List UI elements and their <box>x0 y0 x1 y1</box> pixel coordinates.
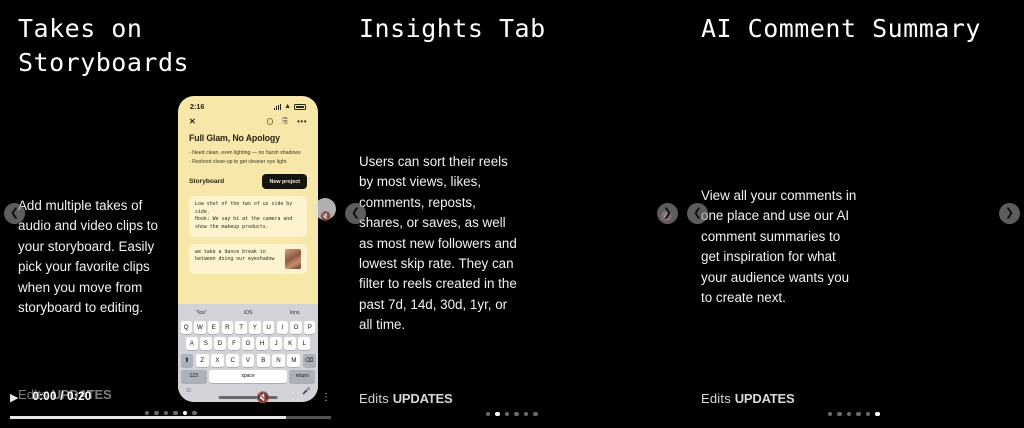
page-dot[interactable] <box>866 412 871 417</box>
video-progress-track[interactable] <box>10 416 331 419</box>
storyboard-card[interactable]: Low shot of the two of us side by side. … <box>189 196 307 236</box>
page-dot[interactable] <box>524 412 529 417</box>
video-time: 0:00 / 0:20 <box>32 391 91 403</box>
key-⬆[interactable]: ⬆ <box>181 354 194 367</box>
color-circle-icon[interactable] <box>267 118 274 125</box>
keyboard-row-3: ⬆ZXCVBNM⌫ <box>178 354 318 370</box>
page-dot[interactable] <box>495 412 500 417</box>
key-b[interactable]: B <box>257 354 270 367</box>
phone-mockup-storyboard: 2:16 ▲ ✕ ⎘ ••• Full Glam, No Apology - N… <box>178 96 318 402</box>
key-f[interactable]: F <box>228 337 240 350</box>
battery-icon <box>294 104 306 110</box>
project-title: Full Glam, No Apology <box>178 126 318 143</box>
toolbar-right-group: ⎘ ••• <box>267 117 307 126</box>
status-time: 2:16 <box>190 102 204 111</box>
page-dot[interactable] <box>533 412 538 417</box>
project-notes: - Need clean, even lighting — no harsh s… <box>178 143 318 166</box>
suggestion-chip[interactable]: "Ios" <box>178 307 225 321</box>
carousel-stage: Takes on Storyboards Add multiple takes … <box>0 0 1024 428</box>
key-k[interactable]: K <box>284 337 296 350</box>
wifi-icon: ▲ <box>284 103 291 110</box>
key-c[interactable]: C <box>226 354 239 367</box>
suggestion-chip[interactable]: iOS <box>225 307 272 321</box>
brand-suffix: UPDATES <box>393 391 453 406</box>
page-title: AI Comment Summary <box>701 12 1011 46</box>
next-slide-button[interactable]: ❯ <box>999 203 1020 224</box>
storyboard-card-text: we take a dance break in between doing o… <box>195 249 280 264</box>
key-a[interactable]: A <box>186 337 198 350</box>
page-dot[interactable] <box>486 412 491 417</box>
page-dot[interactable] <box>837 412 842 417</box>
key-l[interactable]: L <box>298 337 310 350</box>
storyboard-card-thumbnail <box>285 249 301 269</box>
muted-icon[interactable]: 🔇 <box>256 391 270 404</box>
slide-description: Users can sort their reels by most views… <box>359 152 519 336</box>
slide-ai-comment-summary: AI Comment Summary View all your comment… <box>683 0 1024 428</box>
key-j[interactable]: J <box>270 337 282 350</box>
brand-caption: Edits UPDATES <box>359 391 452 406</box>
page-dots[interactable] <box>683 412 1024 417</box>
page-dot[interactable] <box>828 412 833 417</box>
note-line: - Need clean, even lighting — no harsh s… <box>189 149 307 158</box>
keyboard-row-2: ASDFGHJKL <box>178 337 318 353</box>
key-h[interactable]: H <box>256 337 268 350</box>
storyboard-label[interactable]: Storyboard <box>189 178 224 185</box>
key-g[interactable]: G <box>242 337 254 350</box>
key-p[interactable]: P <box>304 321 315 334</box>
key-d[interactable]: D <box>214 337 226 350</box>
mute-indicator[interactable]: 🔇 <box>317 207 335 225</box>
next-slide-button[interactable]: ❯ <box>657 203 678 224</box>
key-s[interactable]: S <box>200 337 212 350</box>
key-u[interactable]: U <box>263 321 274 334</box>
prev-slide-button[interactable]: ❮ <box>345 203 366 224</box>
key-n[interactable]: N <box>272 354 285 367</box>
key-e[interactable]: E <box>208 321 219 334</box>
brand-prefix: Edits <box>701 391 735 406</box>
slide-description: Add multiple takes of audio and video cl… <box>18 196 178 318</box>
keyboard-row-1: QWERTYUIOP <box>178 321 318 337</box>
play-icon[interactable]: ▶ <box>10 391 18 404</box>
brand-prefix: Edits <box>359 391 393 406</box>
video-controls-row: ▶ 0:00 / 0:20 🔇 ⛶ ⋮ <box>10 388 331 406</box>
key-⌫[interactable]: ⌫ <box>303 354 316 367</box>
storyboard-card[interactable]: we take a dance break in between doing o… <box>189 244 307 274</box>
keyboard-suggestions: "Ios" iOS Ions <box>178 307 318 321</box>
more-icon[interactable]: ••• <box>297 117 307 126</box>
key-i[interactable]: I <box>277 321 288 334</box>
slide-takes-on-storyboards: Takes on Storyboards Add multiple takes … <box>0 0 341 428</box>
storyboard-row: Storyboard New project <box>178 166 318 189</box>
key-x[interactable]: X <box>211 354 224 367</box>
page-dot[interactable] <box>856 412 861 417</box>
key-o[interactable]: O <box>290 321 301 334</box>
brand-caption: Edits UPDATES <box>701 391 794 406</box>
video-progress-fill <box>10 416 286 419</box>
prev-slide-button[interactable]: ❮ <box>4 203 25 224</box>
key-y[interactable]: Y <box>249 321 260 334</box>
page-dot[interactable] <box>505 412 510 417</box>
page-title: Insights Tab <box>359 12 669 46</box>
key-q[interactable]: Q <box>181 321 192 334</box>
page-title: Takes on Storyboards <box>18 12 328 80</box>
page-dot[interactable] <box>514 412 519 417</box>
cellular-icon <box>274 104 281 110</box>
fullscreen-icon[interactable]: ⛶ <box>292 392 299 403</box>
key-t[interactable]: T <box>235 321 246 334</box>
slide-description: View all your comments in one place and … <box>701 186 861 308</box>
page-dot[interactable] <box>847 412 852 417</box>
status-icons: ▲ <box>274 103 306 110</box>
phone-status-bar: 2:16 ▲ <box>178 96 318 113</box>
key-v[interactable]: V <box>242 354 255 367</box>
slide-insights-tab: Insights Tab Users can sort their reels … <box>341 0 682 428</box>
key-z[interactable]: Z <box>196 354 209 367</box>
close-icon[interactable]: ✕ <box>189 117 196 126</box>
page-dot[interactable] <box>875 412 880 417</box>
export-icon[interactable]: ⎘ <box>282 118 288 126</box>
key-r[interactable]: R <box>222 321 233 334</box>
brand-suffix: UPDATES <box>735 391 795 406</box>
kebab-menu-icon[interactable]: ⋮ <box>321 392 331 403</box>
key-w[interactable]: W <box>194 321 205 334</box>
new-project-button[interactable]: New project <box>262 174 307 189</box>
key-m[interactable]: M <box>287 354 300 367</box>
suggestion-chip[interactable]: Ions <box>271 307 318 321</box>
note-line: - Reshoot close-up to get cleaner eye li… <box>189 158 307 167</box>
video-control-bar: ▶ 0:00 / 0:20 🔇 ⛶ ⋮ <box>0 380 341 428</box>
page-dots[interactable] <box>341 412 682 417</box>
editor-toolbar: ✕ ⎘ ••• <box>178 113 318 126</box>
prev-slide-button[interactable]: ❮ <box>687 203 708 224</box>
